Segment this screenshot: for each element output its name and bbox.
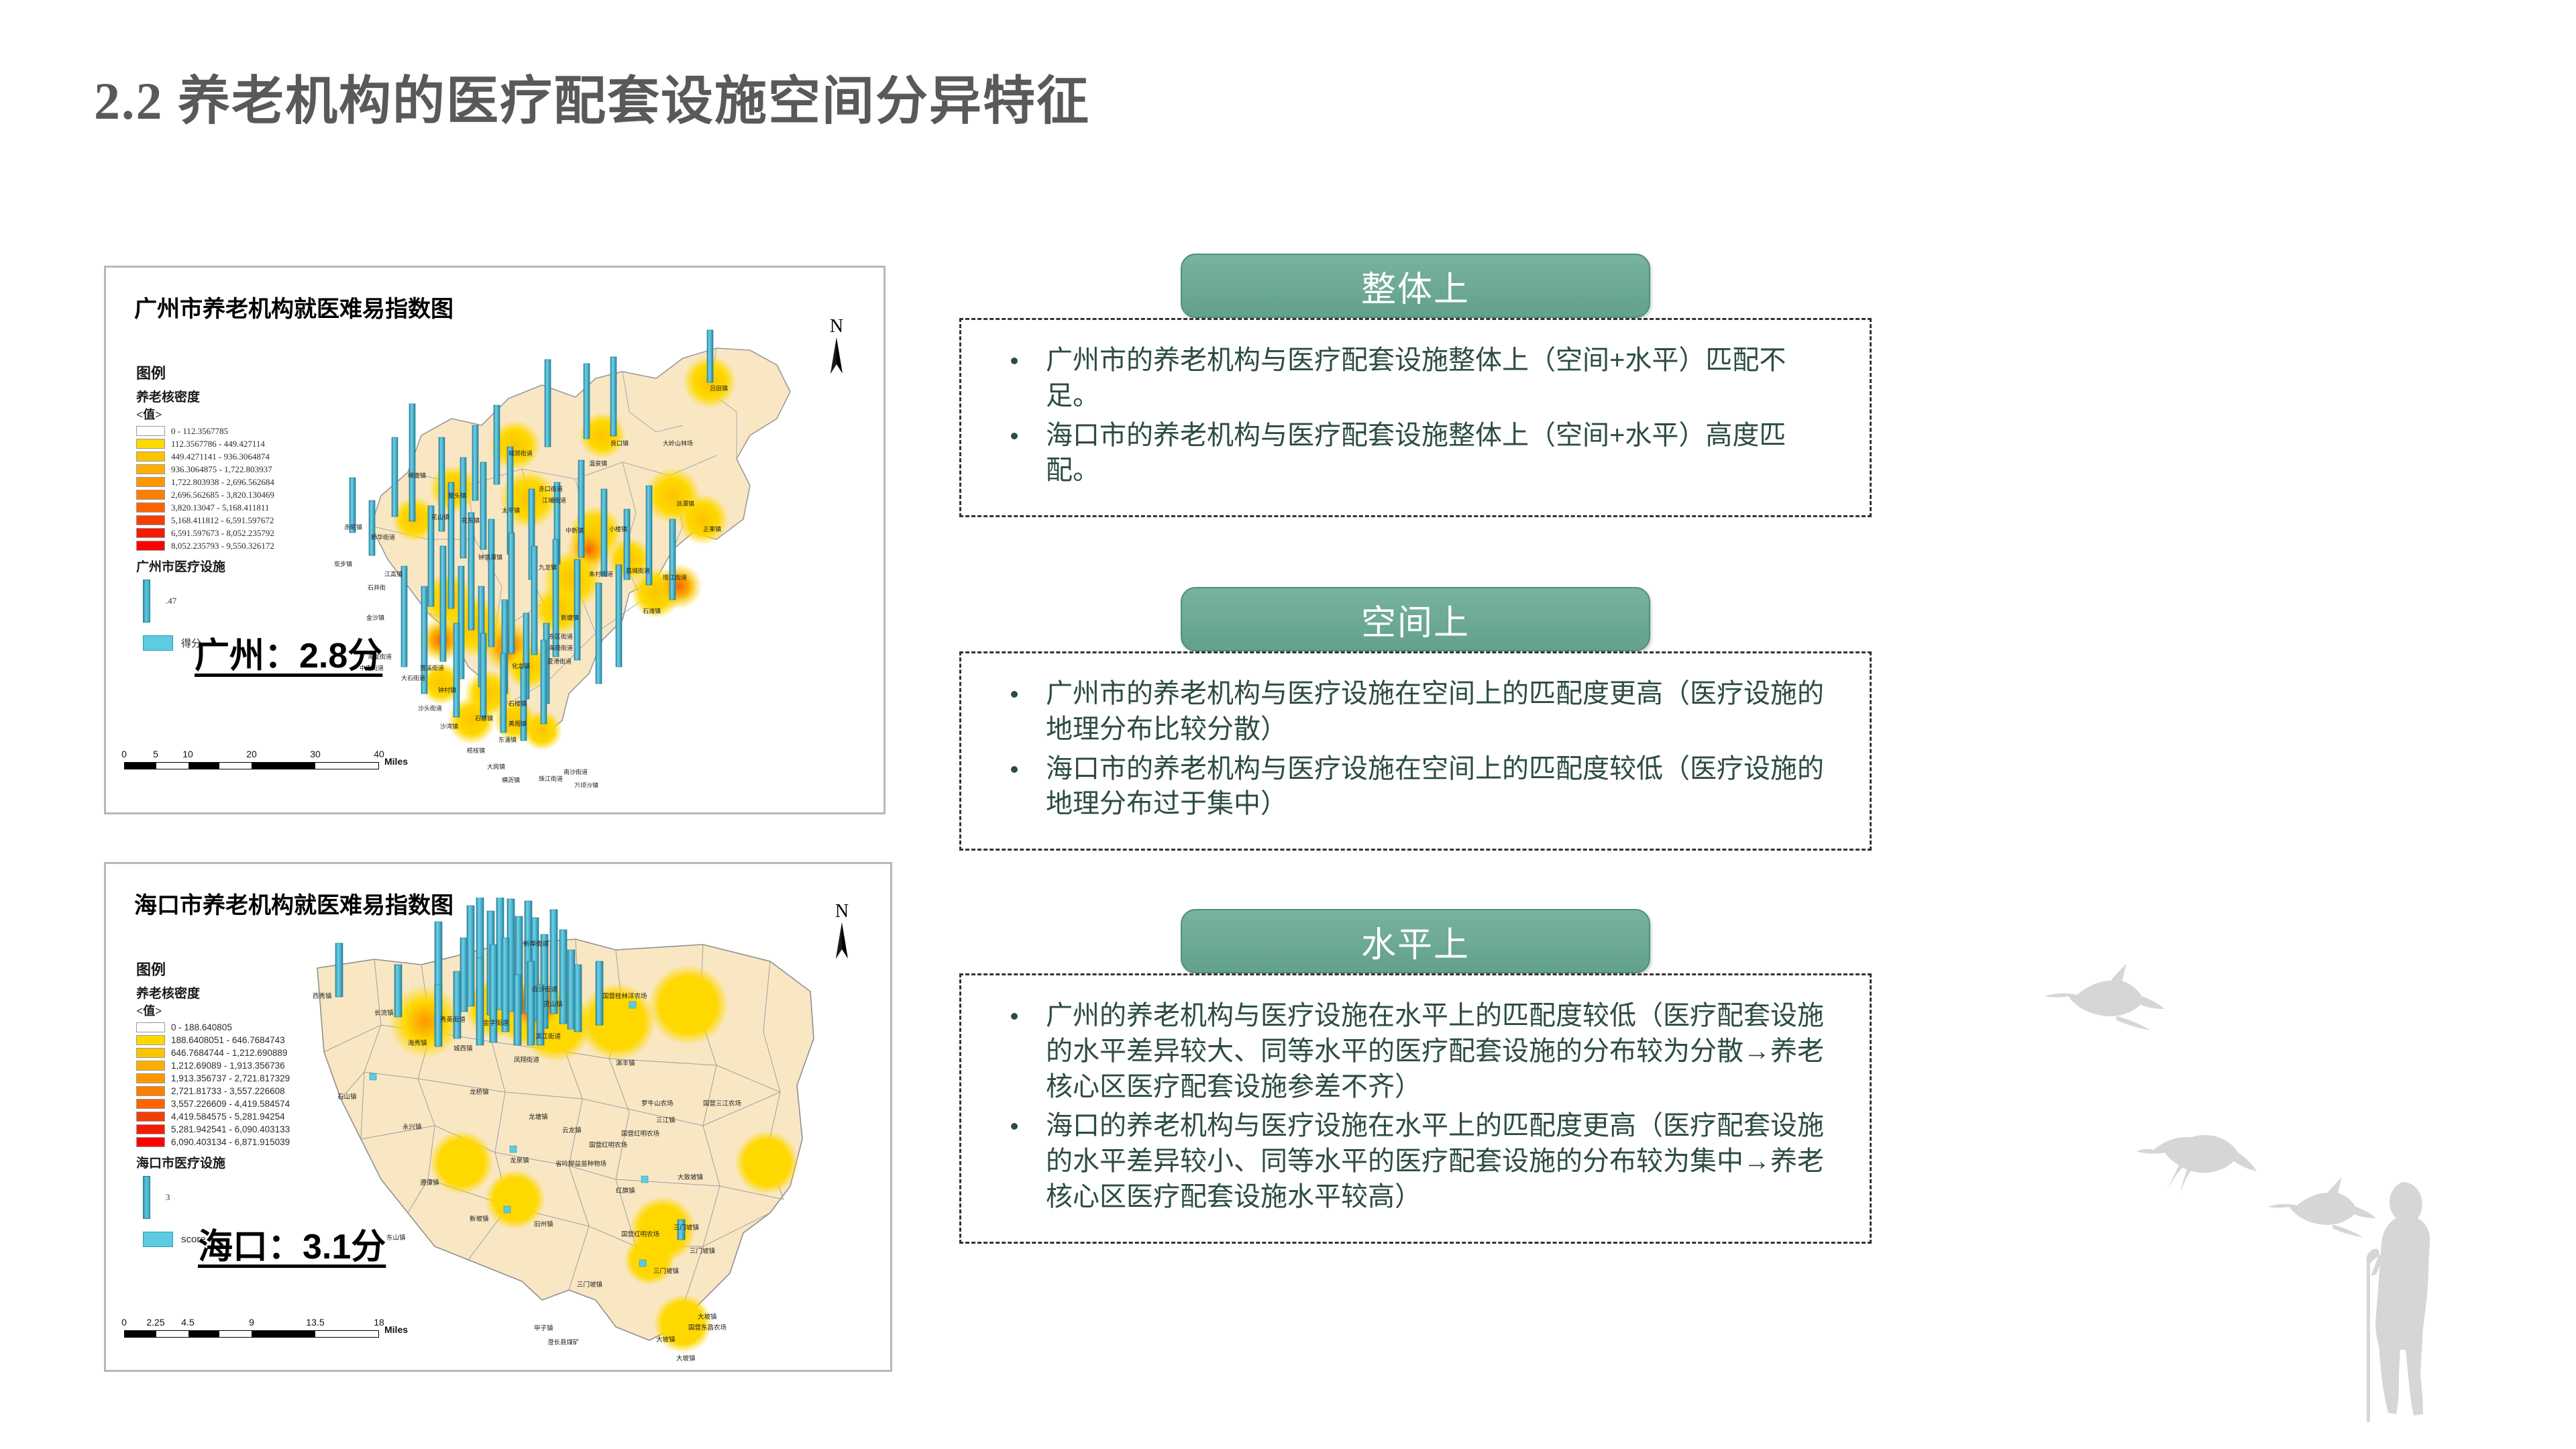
score-callout-guangzhou: 广州：2.8分 (195, 627, 382, 678)
svg-text:大坡镇: 大坡镇 (698, 1313, 717, 1321)
svg-text:龙塘镇: 龙塘镇 (529, 1113, 548, 1121)
legend-haikou: 图例 养老核密度 <值> 0 - 188.640805 188.6408051 … (136, 958, 290, 1247)
svg-text:派潭镇: 派潭镇 (676, 500, 694, 507)
list-item-text: 海口的养老机构与医疗设施在水平上的匹配度更高（医疗配套设施的水平差异较小、同等水… (1046, 1111, 1824, 1212)
legend-row: 1,913.356737 - 2,721.817329 (136, 1072, 290, 1085)
svg-text:新埠街道: 新埠街道 (523, 940, 549, 948)
north-arrow-haikou: N (830, 901, 853, 960)
svg-text:花山镇: 花山镇 (431, 513, 449, 521)
legend-subtitle: 养老核密度 (136, 983, 290, 1002)
legend-swatch (136, 464, 165, 474)
scale-tick: 2.25 (146, 1317, 164, 1328)
bar-legend-value: .47 (166, 596, 176, 606)
legend-label: 0 - 112.3567785 (171, 426, 228, 437)
svg-text:花东镇: 花东镇 (462, 517, 480, 524)
svg-text:澄长县煤矿: 澄长县煤矿 (547, 1338, 580, 1346)
legend-label: 8,052.235793 - 9,550.326172 (171, 541, 274, 551)
svg-text:钟落潭镇: 钟落潭镇 (478, 553, 502, 561)
legend-row: 3,820.13047 - 5,168.411811 (136, 501, 274, 514)
svg-text:龙泉镇: 龙泉镇 (510, 1157, 529, 1165)
svg-text:万顷沙镇: 万顷沙镇 (574, 782, 598, 788)
legend-row: 112.3567786 - 449.427114 (136, 437, 274, 450)
scale-strip (124, 762, 379, 769)
svg-text:灵山镇: 灵山镇 (543, 1000, 563, 1008)
legend-title: 图例 (136, 958, 290, 979)
legend-swatch (136, 1035, 165, 1045)
svg-text:大岗镇: 大岗镇 (487, 763, 505, 770)
legend-row: 0 - 188.640805 (136, 1021, 290, 1034)
legend-row: 1,212.69089 - 1,913.356736 (136, 1059, 290, 1072)
bullet-list-spatial: 广州市的养老机构与医疗设施在空间上的匹配度更高（医疗设施的地理分布比较分散） 海… (996, 676, 1839, 822)
legend-row: 2,696.562685 - 3,820.130469 (136, 488, 274, 501)
legend-row: 6,591.597673 - 8,052.235792 (136, 527, 274, 539)
svg-text:白沙街道: 白沙街道 (532, 985, 558, 994)
section-body-spatial: 广州市的养老机构与医疗设施在空间上的匹配度更高（医疗设施的地理分布比较分散） 海… (959, 651, 1872, 851)
svg-text:新华街道: 新华街道 (371, 533, 395, 541)
svg-text:永兴镇: 永兴镇 (402, 1123, 422, 1131)
legend-swatch (136, 490, 165, 500)
svg-text:江埔街道: 江埔街道 (542, 496, 566, 504)
svg-text:落溪街道: 落溪街道 (420, 664, 444, 672)
svg-text:国营三江农场: 国营三江农场 (703, 1099, 741, 1108)
bullet-list-level: 广州的养老机构与医疗设施在水平上的匹配度较低（医疗配套设施的水平差异较大、同等水… (996, 998, 1839, 1215)
svg-text:赤坭镇: 赤坭镇 (344, 523, 362, 531)
svg-text:大石街道: 大石街道 (401, 674, 425, 682)
legend-label: 6,090.403134 - 6,871.915039 (171, 1137, 290, 1147)
scale-tick: 40 (374, 749, 384, 759)
legend-row: 6,090.403134 - 6,871.915039 (136, 1136, 290, 1148)
svg-text:沙湾镇: 沙湾镇 (440, 722, 458, 730)
legend-swatch (136, 1048, 165, 1058)
list-item-text: 广州市的养老机构与医疗配套设施整体上（空间+水平）匹配不足。 (1046, 345, 1786, 411)
list-item-text: 广州市的养老机构与医疗设施在空间上的匹配度更高（医疗设施的地理分布比较分散） (1046, 679, 1824, 744)
legend-label: 3,557.226609 - 4,419.584574 (171, 1099, 290, 1109)
svg-text:国营桂林洋农场: 国营桂林洋农场 (602, 992, 647, 1000)
legend-title: 图例 (136, 362, 274, 383)
elderly-person-with-cane-icon (2366, 1182, 2430, 1422)
svg-text:金字街道: 金字街道 (483, 1019, 509, 1027)
legend-label: 5,168.411812 - 6,591.597672 (171, 515, 274, 526)
svg-text:演丰镇: 演丰镇 (616, 1059, 635, 1067)
svg-text:秀英街道: 秀英街道 (440, 1016, 466, 1024)
scale-unit: Miles (384, 1324, 408, 1335)
svg-text:吕田镇: 吕田镇 (710, 384, 728, 392)
svg-text:东区街道: 东区街道 (549, 633, 573, 640)
svg-text:云龙镇: 云龙镇 (562, 1126, 582, 1134)
legend-row: 646.7684744 - 1,212.690889 (136, 1046, 290, 1059)
legend-swatch (136, 541, 165, 551)
legend-label: 3,820.13047 - 5,168.411811 (171, 502, 269, 513)
section-header-overall[interactable]: 整体上 (1181, 254, 1650, 318)
svg-text:遵谭镇: 遵谭镇 (420, 1179, 439, 1187)
svg-text:沙头街道: 沙头街道 (418, 704, 442, 712)
svg-text:大致坡镇: 大致坡镇 (678, 1173, 704, 1181)
north-label: N (825, 316, 848, 337)
legend-value-header: <值> (136, 1002, 290, 1019)
svg-text:南沙街道: 南沙街道 (563, 768, 588, 775)
map-panel-guangzhou: 广州市养老机构就医难易指数图 (104, 266, 885, 814)
svg-text:大岭山林场: 大岭山林场 (663, 439, 693, 447)
svg-text:大坡镇: 大坡镇 (676, 1354, 696, 1362)
scale-strip (124, 1330, 379, 1338)
legend-label: 5,281.942541 - 6,090.403133 (171, 1124, 290, 1134)
legend-swatch (136, 451, 165, 462)
bullet-dot-icon (1011, 1013, 1018, 1020)
svg-text:夏港街道: 夏港街道 (547, 657, 572, 665)
legend-row: 3,557.226609 - 4,419.584574 (136, 1097, 290, 1110)
legend-swatch (136, 502, 165, 513)
svg-text:国营东昌农场: 国营东昌农场 (688, 1324, 727, 1332)
svg-text:良口镇: 良口镇 (610, 439, 629, 447)
legend-guangzhou: 图例 养老核密度 <值> 0 - 112.3567785 112.3567786… (136, 362, 274, 651)
map-panel-haikou: 海口市养老机构就医难易指数图 (104, 862, 892, 1372)
legend-label: 2,721.81733 - 3,557.226608 (171, 1086, 285, 1096)
svg-text:荔城街道: 荔城街道 (626, 567, 650, 574)
legend-label: 449.4271141 - 936.3064874 (171, 451, 270, 462)
score-callout-haikou: 海口：3.1分 (198, 1218, 386, 1269)
bar-legend-value: 3 (166, 1192, 170, 1203)
legend-row: 936.3064875 - 1,722.803937 (136, 463, 274, 476)
legend-row: 4,419.584575 - 5,281.94254 (136, 1110, 290, 1123)
svg-text:鳌头镇: 鳌头镇 (448, 492, 466, 499)
scale-tick: 20 (246, 749, 257, 759)
svg-text:东山镇: 东山镇 (386, 1234, 406, 1242)
svg-text:正果镇: 正果镇 (703, 525, 721, 533)
svg-text:中新镇: 中新镇 (566, 527, 584, 534)
legend-row: 0 - 112.3567785 (136, 425, 274, 437)
legend-value-header: <值> (136, 405, 274, 423)
flying-crane-icon (2267, 1177, 2376, 1237)
svg-text:三门坡镇: 三门坡镇 (653, 1267, 680, 1275)
facility-legend-header: 海口市医疗设施 (136, 1153, 290, 1171)
svg-text:新塘镇: 新塘镇 (561, 614, 579, 621)
scale-tick: 0 (121, 749, 127, 759)
bullet-dot-icon (1011, 766, 1018, 773)
map-graphic-guangzhou: 吕田镇良口镇 温泉镇大岭山林场 城郊街道鳌头镇 梯面镇花山镇 太平镇派潭镇 正果… (307, 318, 844, 788)
scale-unit: Miles (384, 756, 408, 767)
page-title: 2.2 养老机构的医疗配套设施空间分异特征 (94, 59, 1090, 134)
list-item: 海口市的养老机构与医疗配套设施整体上（空间+水平）高度匹配。 (996, 418, 1839, 489)
legend-swatch (136, 1124, 165, 1134)
svg-text:三门坡镇: 三门坡镇 (690, 1247, 716, 1255)
legend-label: 936.3064875 - 1,722.803937 (171, 464, 272, 475)
svg-text:石井街: 石井街 (368, 584, 386, 591)
svg-text:旧州镇: 旧州镇 (534, 1220, 553, 1228)
svg-text:炭步镇: 炭步镇 (334, 560, 352, 568)
svg-text:江高镇: 江高镇 (384, 570, 402, 578)
north-label: N (830, 901, 853, 922)
svg-text:国营红明农场: 国营红明农场 (621, 1130, 659, 1138)
svg-text:珠江街道: 珠江街道 (539, 775, 563, 782)
legend-label: 1,722.803938 - 2,696.562684 (171, 477, 274, 488)
svg-text:石基镇: 石基镇 (475, 714, 493, 722)
legend-swatch (136, 1022, 165, 1032)
score-swatch (143, 635, 173, 651)
svg-text:石山镇: 石山镇 (337, 1093, 357, 1101)
legend-label: 0 - 188.640805 (171, 1022, 232, 1032)
legend-swatch (136, 477, 165, 487)
legend-swatch (136, 528, 165, 538)
legend-swatch (136, 439, 165, 449)
svg-text:朱村街道: 朱村街道 (589, 570, 613, 578)
svg-text:城西镇: 城西镇 (453, 1044, 473, 1053)
north-arrow-guangzhou: N (825, 316, 848, 375)
legend-row: 8,052.235793 - 9,550.326172 (136, 539, 274, 552)
list-item-text: 广州的养老机构与医疗设施在水平上的匹配度较低（医疗配套设施的水平差异较大、同等水… (1046, 1001, 1824, 1102)
list-item-text: 海口市的养老机构与医疗设施在空间上的匹配度较低（医疗设施的地理分布过于集中） (1046, 754, 1824, 819)
list-item: 广州市的养老机构与医疗配套设施整体上（空间+水平）匹配不足。 (996, 343, 1839, 414)
svg-text:海秀镇: 海秀镇 (408, 1039, 427, 1047)
svg-text:东涌镇: 东涌镇 (498, 736, 517, 743)
bullet-dot-icon (1011, 358, 1018, 364)
svg-text:梯面镇: 梯面镇 (408, 472, 426, 479)
svg-text:国营红明农场: 国营红明农场 (621, 1230, 659, 1238)
svg-text:石楼镇: 石楼镇 (508, 700, 527, 707)
scale-tick: 13.5 (306, 1317, 324, 1328)
list-item: 广州的养老机构与医疗设施在水平上的匹配度较低（医疗配套设施的水平差异较大、同等水… (996, 998, 1839, 1104)
legend-label: 1,913.356737 - 2,721.817329 (171, 1073, 290, 1083)
scale-tick: 4.5 (181, 1317, 194, 1328)
svg-text:九龙镇: 九龙镇 (539, 563, 557, 571)
list-item: 海口市的养老机构与医疗设施在空间上的匹配度较低（医疗设施的地理分布过于集中） (996, 751, 1839, 822)
legend-label: 188.6408051 - 646.7684743 (171, 1035, 285, 1045)
legend-label: 6,591.597673 - 8,052.235792 (171, 528, 274, 539)
legend-swatch (136, 1086, 165, 1096)
legend-label: 646.7684744 - 1,212.690889 (171, 1048, 287, 1058)
legend-swatch (136, 426, 165, 436)
legend-swatch (136, 515, 165, 525)
svg-text:海岗街道: 海岗街道 (549, 644, 573, 651)
legend-row: 188.6408051 - 646.7684743 (136, 1034, 290, 1046)
svg-text:黄阁镇: 黄阁镇 (508, 720, 527, 727)
svg-text:温泉镇: 温泉镇 (589, 460, 607, 467)
svg-text:滨江街道: 滨江街道 (535, 1032, 561, 1040)
scale-tick: 10 (182, 749, 193, 759)
legend-swatch (136, 1099, 165, 1109)
legend-swatch (136, 1073, 165, 1083)
legend-label: 1,212.69089 - 1,913.356736 (171, 1061, 285, 1071)
scale-ticks: 0 2.25 4.5 9 13.5 18 (124, 1317, 406, 1330)
score-swatch (143, 1232, 173, 1247)
svg-text:钟村镇: 钟村镇 (438, 686, 456, 694)
svg-text:太平镇: 太平镇 (502, 506, 520, 514)
list-item: 海口的养老机构与医疗设施在水平上的匹配度更高（医疗配套设施的水平差异较小、同等水… (996, 1108, 1839, 1214)
svg-text:西秀镇: 西秀镇 (313, 992, 332, 1000)
flying-crane-icon (2045, 964, 2165, 1030)
section-header-level[interactable]: 水平上 (1181, 909, 1650, 973)
bullet-dot-icon (1011, 1123, 1018, 1130)
svg-text:省吟脚益苗种物场: 省吟脚益苗种物场 (555, 1160, 606, 1168)
list-item-text: 海口市的养老机构与医疗配套设施整体上（空间+水平）高度匹配。 (1046, 421, 1786, 486)
legend-row: 5,168.411812 - 6,591.597672 (136, 514, 274, 527)
svg-text:小楼镇: 小楼镇 (609, 525, 627, 533)
svg-text:石滩镇: 石滩镇 (643, 607, 661, 614)
svg-text:国营红明农场: 国营红明农场 (589, 1141, 627, 1149)
section-body-overall: 广州市的养老机构与医疗配套设施整体上（空间+水平）匹配不足。 海口市的养老机构与… (959, 318, 1872, 517)
scale-tick: 5 (153, 749, 158, 759)
svg-text:凤翔街道: 凤翔街道 (514, 1056, 540, 1064)
scalebar-haikou: 0 2.25 4.5 9 13.5 18 Miles (124, 1317, 406, 1338)
svg-text:红旗镇: 红旗镇 (616, 1187, 635, 1195)
legend-label: 112.3567786 - 449.427114 (171, 439, 265, 449)
bar-icon (143, 1176, 150, 1219)
svg-text:三门坡镇: 三门坡镇 (674, 1224, 700, 1232)
legend-swatch (136, 1137, 165, 1147)
svg-text:新坡镇: 新坡镇 (470, 1215, 489, 1223)
bar-icon (143, 580, 150, 623)
bullet-dot-icon (1011, 433, 1018, 439)
svg-text:龙桥镇: 龙桥镇 (470, 1088, 489, 1096)
scale-tick: 9 (249, 1317, 254, 1328)
bar-legend-sample: 3 (136, 1174, 290, 1221)
scale-ticks: 0 5 10 20 30 40 (124, 749, 406, 762)
flying-crane-icon (2137, 1135, 2257, 1193)
svg-text:榄核镇: 榄核镇 (467, 747, 485, 754)
bullet-dot-icon (1011, 691, 1018, 698)
section-header-spatial[interactable]: 空间上 (1181, 587, 1650, 651)
legend-row: 449.4271141 - 936.3064874 (136, 450, 274, 463)
svg-text:金沙镇: 金沙镇 (366, 614, 384, 621)
svg-text:赤口街道: 赤口街道 (539, 485, 563, 492)
legend-label: 2,696.562685 - 3,820.130469 (171, 490, 274, 500)
map-graphic-haikou: 西秀镇长流镇 海秀镇秀英街道 城西镇金字街道 新埠街道白沙街道 灵山镇滨江街道 … (301, 898, 857, 1367)
svg-text:横沥镇: 横沥镇 (502, 776, 520, 784)
svg-text:三江镇: 三江镇 (656, 1116, 676, 1124)
legend-row: 2,721.81733 - 3,557.226608 (136, 1085, 290, 1097)
scalebar-guangzhou: 0 5 10 20 30 40 Miles (124, 749, 406, 769)
bar-legend-sample: .47 (136, 578, 274, 625)
svg-text:罗牛山农场: 罗牛山农场 (641, 1099, 674, 1108)
facility-legend-header: 广州市医疗设施 (136, 557, 274, 575)
svg-text:城郊街道: 城郊街道 (508, 449, 533, 457)
scale-tick: 18 (374, 1317, 384, 1328)
svg-text:大坡镇: 大坡镇 (656, 1336, 676, 1344)
bullet-list-overall: 广州市的养老机构与医疗配套设施整体上（空间+水平）匹配不足。 海口市的养老机构与… (996, 343, 1839, 488)
scale-tick: 30 (310, 749, 321, 759)
svg-text:化龙镇: 化龙镇 (512, 662, 530, 669)
list-item: 广州市的养老机构与医疗设施在空间上的匹配度更高（医疗设施的地理分布比较分散） (996, 676, 1839, 747)
legend-row: 1,722.803938 - 2,696.562684 (136, 476, 274, 488)
svg-text:增江街道: 增江街道 (663, 574, 687, 581)
decorative-artwork (1972, 953, 2576, 1449)
svg-text:甲子镇: 甲子镇 (534, 1324, 553, 1332)
section-body-level: 广州的养老机构与医疗设施在水平上的匹配度较低（医疗配套设施的水平差异较大、同等水… (959, 973, 1872, 1244)
legend-swatch (136, 1112, 165, 1122)
scale-tick: 0 (121, 1317, 127, 1328)
svg-text:长流镇: 长流镇 (374, 1009, 394, 1017)
legend-swatch (136, 1061, 165, 1071)
svg-text:三门坡镇: 三门坡镇 (577, 1281, 603, 1289)
legend-label: 4,419.584575 - 5,281.94254 (171, 1112, 285, 1122)
legend-subtitle: 养老核密度 (136, 387, 274, 405)
legend-row: 5,281.942541 - 6,090.403133 (136, 1123, 290, 1136)
